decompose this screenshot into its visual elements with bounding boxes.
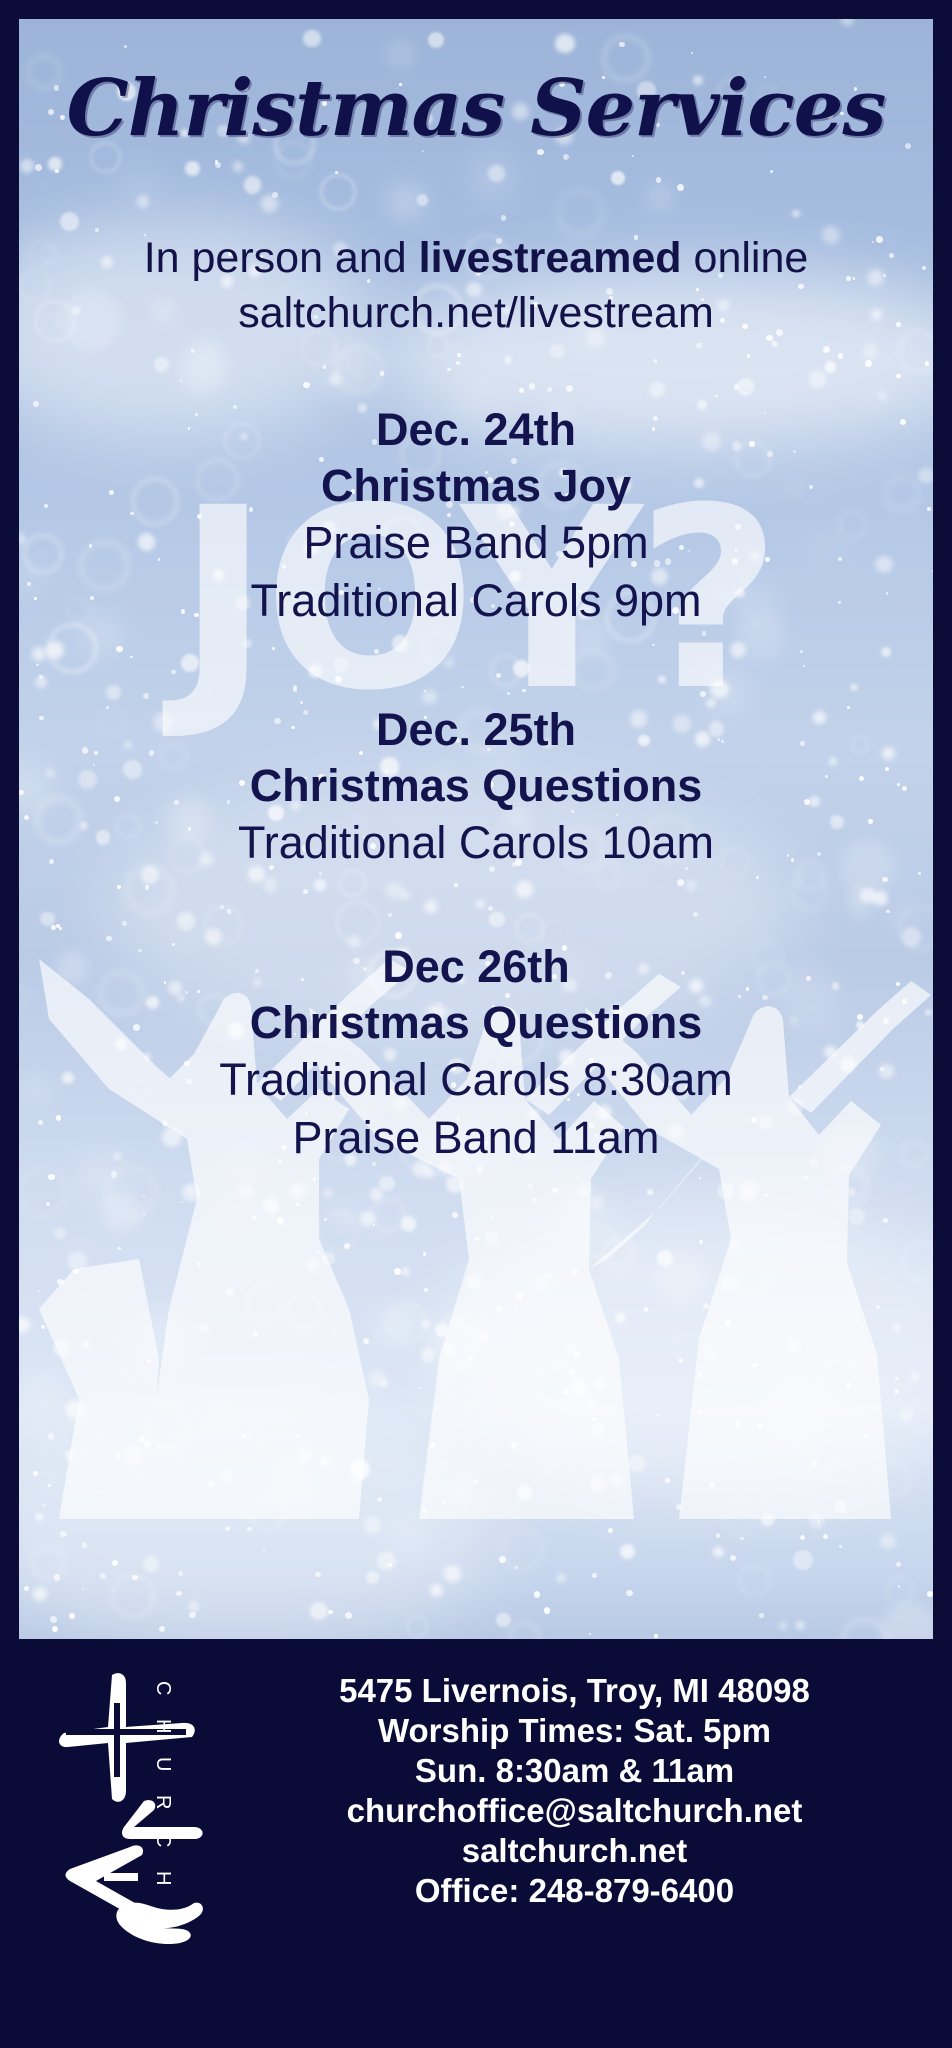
salt-church-logo[interactable]: C H U R C H xyxy=(34,1667,224,1952)
lead-bold: livestreamed xyxy=(419,234,682,282)
service-date: Dec 26th xyxy=(19,939,933,995)
contact-address: 5475 Livernois, Troy, MI 48098 xyxy=(215,1671,934,1711)
service-block-dec-26: Dec 26th Christmas Questions Traditional… xyxy=(19,939,933,1167)
footer-bar: C H U R C H 5475 Livernois, Troy, MI 480… xyxy=(0,1639,952,2048)
service-block-dec-25: Dec. 25th Christmas Questions Traditiona… xyxy=(19,702,933,872)
lead-prefix: In person and xyxy=(144,234,419,282)
service-time: Praise Band 11am xyxy=(19,1109,933,1167)
poster-content: Christmas Services In person and livestr… xyxy=(19,19,933,1639)
service-date: Dec. 24th xyxy=(19,402,933,458)
livestream-line-1: In person and livestreamed online xyxy=(19,234,933,283)
logo-church-word: C H U R C H xyxy=(151,1681,174,1851)
contact-worship-sat: Worship Times: Sat. 5pm xyxy=(215,1711,934,1751)
service-time: Traditional Carols 9pm xyxy=(19,572,933,630)
service-time: Traditional Carols 8:30am xyxy=(19,1051,933,1109)
christmas-services-poster: JOY? xyxy=(0,0,952,2048)
service-time: Traditional Carols 10am xyxy=(19,814,933,872)
contact-email[interactable]: churchoffice@saltchurch.net xyxy=(215,1791,934,1831)
salt-logo-mark xyxy=(34,1667,224,1952)
service-theme: Christmas Questions xyxy=(19,995,933,1051)
snow-background-panel: JOY? xyxy=(19,19,933,1639)
service-block-dec-24: Dec. 24th Christmas Joy Praise Band 5pm … xyxy=(19,402,933,630)
contact-worship-sun: Sun. 8:30am & 11am xyxy=(215,1751,934,1791)
service-theme: Christmas Questions xyxy=(19,758,933,814)
service-theme: Christmas Joy xyxy=(19,458,933,514)
service-date: Dec. 25th xyxy=(19,702,933,758)
lead-suffix: online xyxy=(682,234,809,282)
page-title: Christmas Services xyxy=(19,63,933,154)
contact-info: 5475 Livernois, Troy, MI 48098 Worship T… xyxy=(215,1671,934,1911)
livestream-url[interactable]: saltchurch.net/livestream xyxy=(19,289,933,338)
contact-phone[interactable]: Office: 248-879-6400 xyxy=(215,1871,934,1911)
contact-website[interactable]: saltchurch.net xyxy=(215,1831,934,1871)
service-time: Praise Band 5pm xyxy=(19,514,933,572)
